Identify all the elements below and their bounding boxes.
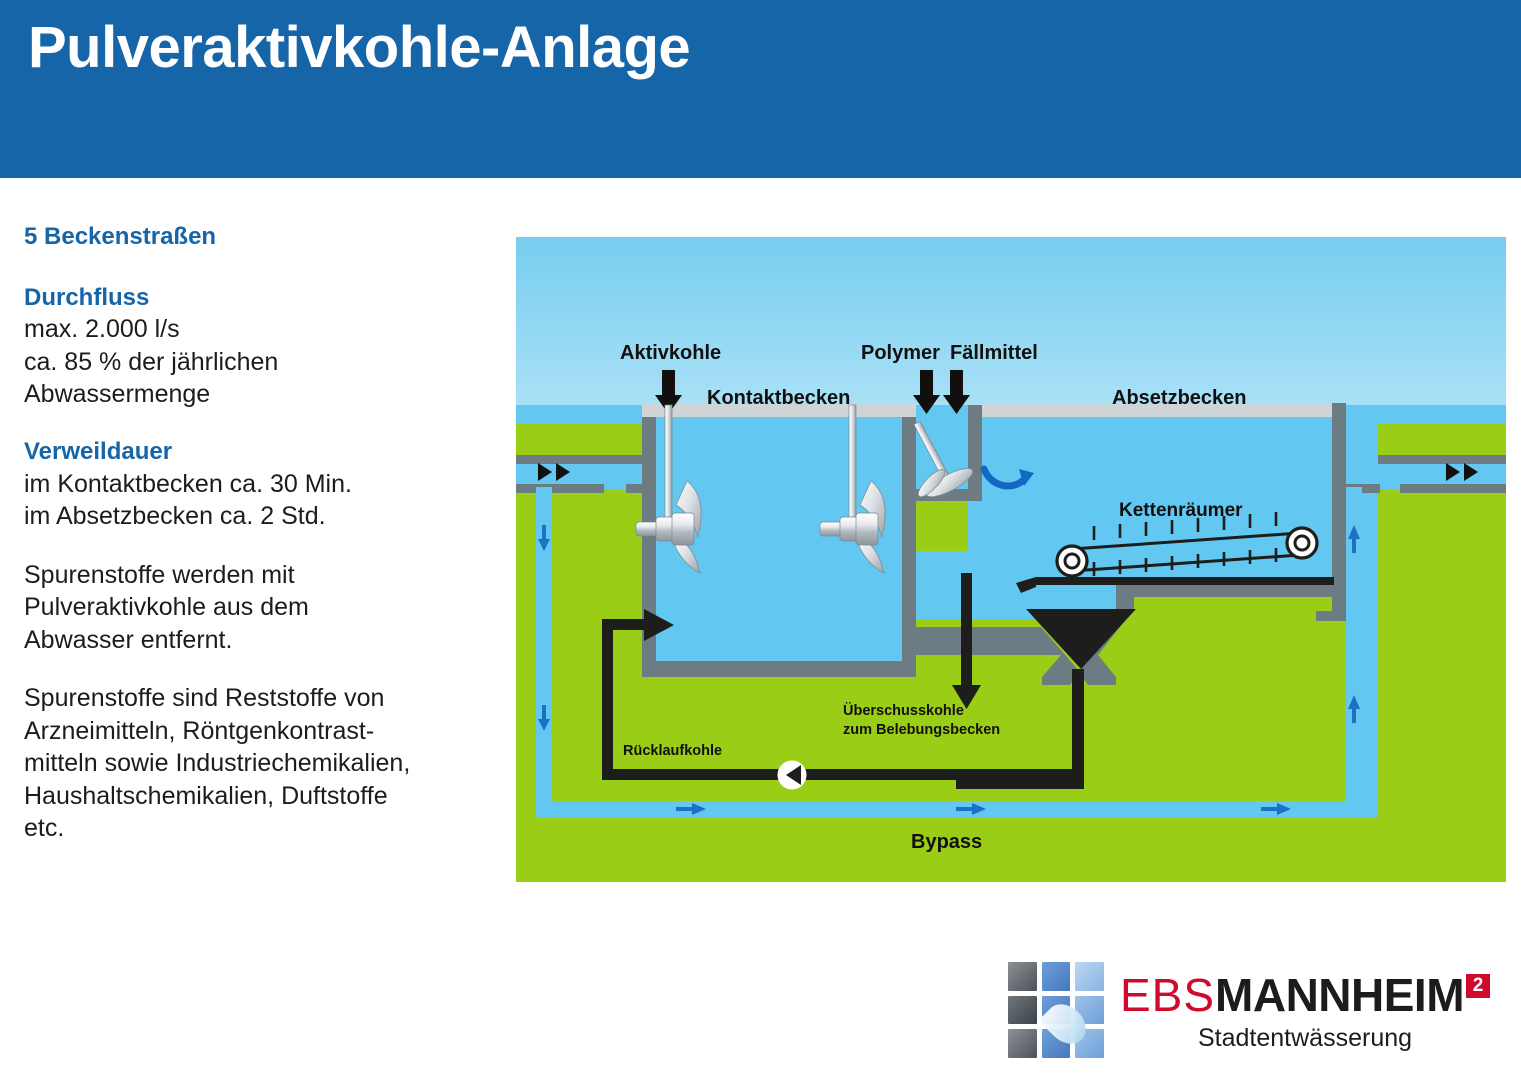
- label-ueberschusskohle-line1: Überschusskohle: [843, 703, 964, 719]
- logo-ebs-text: EBS: [1120, 969, 1215, 1021]
- paragraph-2-line-1: Spurenstoffe sind Reststoffe von: [24, 682, 494, 715]
- verweildauer-line-1: im Kontaktbecken ca. 30 Min.: [24, 468, 494, 501]
- ground-block-inlet-lower-left: [516, 489, 536, 819]
- logo-square-4: [1008, 996, 1037, 1025]
- heading-verweildauer: Verweildauer: [24, 437, 494, 468]
- durchfluss-line-2: ca. 85 % der jährlichen: [24, 346, 494, 379]
- label-kettenraeumer: Kettenräumer: [1119, 500, 1243, 521]
- logo-mannheim-text: MANNHEIM: [1215, 969, 1464, 1021]
- floc-chamber-left-wall: [902, 433, 916, 497]
- label-polymer: Polymer: [861, 342, 940, 364]
- label-bypass: Bypass: [911, 831, 982, 853]
- outlet-lower-wall-right: [1400, 484, 1506, 493]
- ground-block-inlet-upper: [516, 424, 642, 459]
- heading-durchfluss: Durchfluss: [24, 283, 494, 314]
- page-title: Pulveraktivkohle-Anlage: [28, 14, 690, 81]
- paragraph-1-line-3: Abwasser entfernt.: [24, 624, 494, 657]
- logo-superscript-two: 2: [1466, 974, 1490, 998]
- paragraph-2-line-2: Arzneimitteln, Röntgenkontrast-: [24, 715, 494, 748]
- label-kontaktbecken: Kontaktbecken: [707, 387, 850, 409]
- logo-tagline: Stadtentwässerung: [1198, 1024, 1412, 1053]
- logo-square-7: [1008, 1029, 1037, 1058]
- paragraph-1-line-1: Spurenstoffe werden mit: [24, 559, 494, 592]
- durchfluss-line-1: max. 2.000 l/s: [24, 313, 494, 346]
- logo-square-1: [1008, 962, 1037, 991]
- paragraph-2-line-4: Haushaltschemikalien, Duftstoffe: [24, 780, 494, 813]
- label-aktivkohle: Aktivkohle: [620, 342, 721, 364]
- logo-wordmark: EBSMANNHEIM2: [1120, 968, 1490, 1022]
- ground-block-outlet-lower: [1378, 489, 1506, 819]
- ground-block-outlet-upper: [1378, 424, 1506, 459]
- paragraph-2-line-5: etc.: [24, 812, 494, 845]
- logo-square-2: [1042, 962, 1071, 991]
- floc-chamber-right-wall: [968, 405, 982, 501]
- inlet-lower-wall-left: [516, 484, 604, 493]
- info-text-column: 5 Beckenstraßen Durchfluss max. 2.000 l/…: [24, 222, 494, 845]
- inlet-upper-wall: [516, 455, 644, 464]
- slide-root: Pulveraktivkohle-Anlage 5 Beckenstraßen …: [0, 0, 1521, 1080]
- excess-carbon-feeder: [961, 573, 972, 587]
- label-ruecklaufkohle: Rücklaufkohle: [623, 743, 722, 759]
- verweildauer-line-2: im Absetzbecken ca. 2 Std.: [24, 500, 494, 533]
- paragraph-2-line-3: mitteln sowie Industriechemikalien,: [24, 747, 494, 780]
- return-flow-direction-marker: [778, 761, 806, 789]
- durchfluss-line-3: Abwassermenge: [24, 378, 494, 411]
- settling-basin-bottom-right-ledge: [1316, 611, 1346, 621]
- settling-basin-right-outer-wall: [1332, 403, 1346, 463]
- paragraph-1-line-2: Pulveraktivkohle aus dem: [24, 591, 494, 624]
- label-absetzbecken: Absetzbecken: [1112, 387, 1247, 409]
- plant-cross-section-diagram: Aktivkohle Kontaktbecken Polymer Fällmit…: [516, 237, 1506, 882]
- scraper-track: [1036, 577, 1334, 585]
- contact-basin-floor: [642, 661, 916, 677]
- heading-beckenstrassen: 5 Beckenstraßen: [24, 222, 494, 253]
- logo-square-3: [1075, 962, 1104, 991]
- diagram-vector-layer: [516, 237, 1506, 882]
- slide-header: Pulveraktivkohle-Anlage: [0, 0, 1521, 178]
- label-faellmittel: Fällmittel: [950, 342, 1038, 364]
- floc-chamber-ground-fill: [916, 501, 968, 551]
- ebs-mannheim-logo: EBSMANNHEIM2 Stadtentwässerung: [1008, 958, 1508, 1070]
- outlet-rise-water: [1362, 487, 1378, 817]
- label-ueberschusskohle-line2: zum Belebungsbecken: [843, 722, 1000, 738]
- outlet-upper-wall: [1378, 455, 1506, 464]
